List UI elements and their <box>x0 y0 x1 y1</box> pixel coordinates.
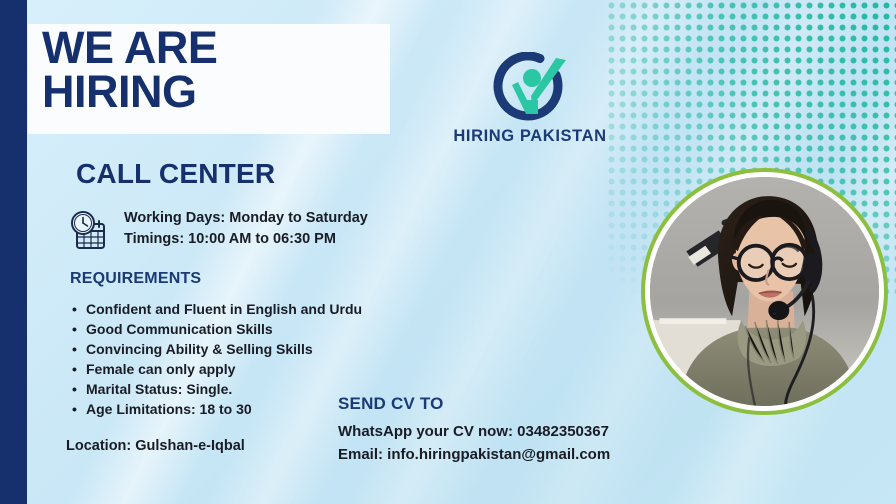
page-title: WE ARE HIRING <box>42 26 217 114</box>
contact-details: WhatsApp your CV now: 03482350367 Email:… <box>338 421 610 467</box>
clock-calendar-icon <box>68 210 112 252</box>
agent-illustration <box>650 177 879 406</box>
requirements-list: Confident and Fluent in English and Urdu… <box>72 299 362 419</box>
list-item: Good Communication Skills <box>72 319 362 339</box>
job-title: CALL CENTER <box>76 158 275 190</box>
avatar <box>641 168 888 415</box>
person-checkmark-circle-logo-icon <box>482 52 578 122</box>
hiring-poster: WE ARE HIRING HIRING PAKISTAN CALL CENTE… <box>0 0 896 504</box>
list-item: Age Limitations: 18 to 30 <box>72 399 362 419</box>
left-navy-accent-bar <box>0 0 27 504</box>
list-item: Female can only apply <box>72 359 362 379</box>
working-days-text: Working Days: Monday to Saturday <box>124 208 368 229</box>
brand-name: HIRING PAKISTAN <box>440 127 620 146</box>
send-cv-heading: SEND CV TO <box>338 394 444 414</box>
headline-line-2: HIRING <box>42 70 217 114</box>
list-item: Confident and Fluent in English and Urdu <box>72 299 362 319</box>
call-center-agent-photo <box>650 177 879 406</box>
list-item: Marital Status: Single. <box>72 379 362 399</box>
brand-logo: HIRING PAKISTAN <box>440 52 620 146</box>
email-contact: Email: info.hiringpakistan@gmail.com <box>338 444 610 467</box>
requirements-heading: REQUIREMENTS <box>70 270 201 288</box>
list-item: Convincing Ability & Selling Skills <box>72 339 362 359</box>
timings-text: Timings: 10:00 AM to 06:30 PM <box>124 229 368 250</box>
whatsapp-contact: WhatsApp your CV now: 03482350367 <box>338 421 610 444</box>
location-text: Location: Gulshan-e-Iqbal <box>66 438 245 454</box>
schedule-block: Working Days: Monday to Saturday Timings… <box>68 208 368 252</box>
